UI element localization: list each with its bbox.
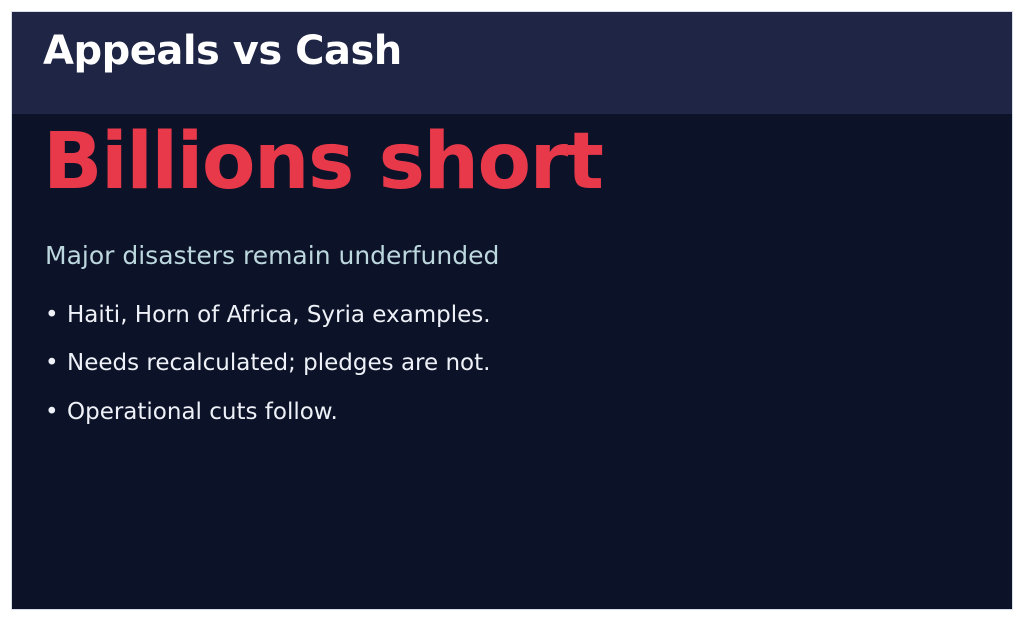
list-item: • Needs recalculated; pledges are not.	[45, 350, 491, 376]
slide-title: Appeals vs Cash	[43, 28, 402, 74]
headline: Billions short	[43, 120, 602, 204]
slide-body: Billions short Major disasters remain un…	[12, 114, 1012, 609]
subheadline: Major disasters remain underfunded	[45, 240, 499, 273]
bullet-dot-icon: •	[45, 302, 67, 328]
list-item-label: Operational cuts follow.	[67, 399, 338, 425]
slide-frame: Appeals vs Cash Billions short Major dis…	[11, 11, 1013, 610]
list-item-label: Needs recalculated; pledges are not.	[67, 350, 490, 376]
bullet-list: • Haiti, Horn of Africa, Syria examples.…	[45, 302, 491, 447]
bullet-dot-icon: •	[45, 350, 67, 376]
bullet-dot-icon: •	[45, 399, 67, 425]
slide-header-band: Appeals vs Cash	[12, 12, 1012, 114]
list-item-label: Haiti, Horn of Africa, Syria examples.	[67, 302, 491, 328]
list-item: • Operational cuts follow.	[45, 399, 491, 425]
list-item: • Haiti, Horn of Africa, Syria examples.	[45, 302, 491, 328]
